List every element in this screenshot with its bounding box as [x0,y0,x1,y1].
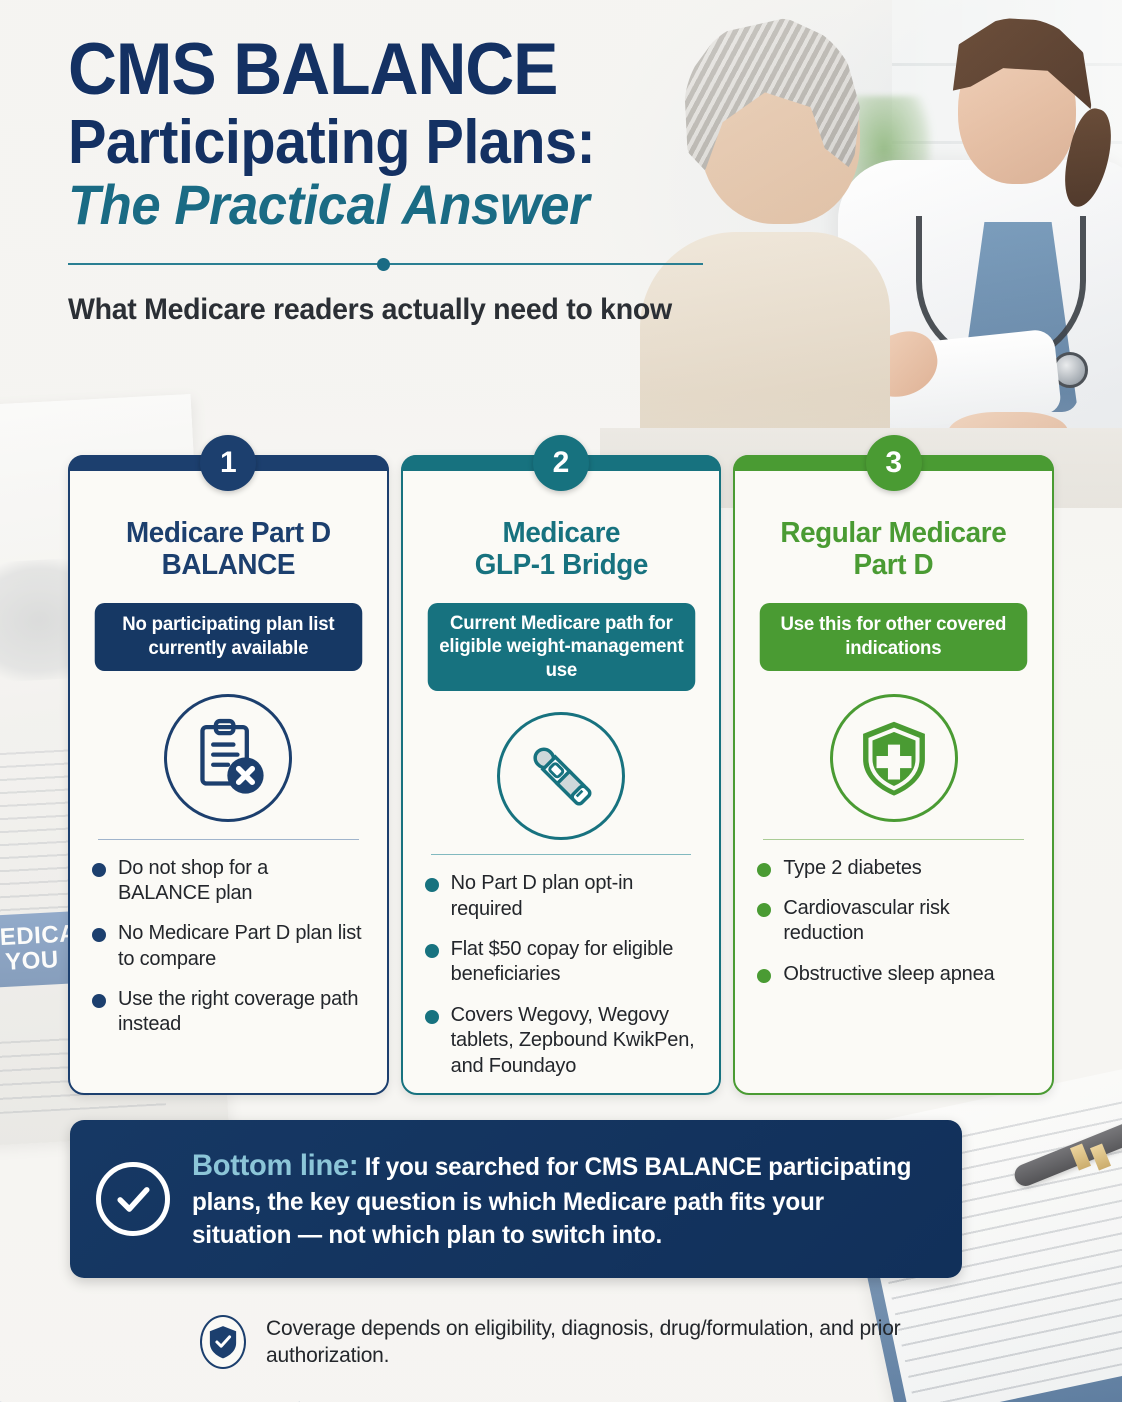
header: CMS BALANCE Participating Plans: The Pra… [68,36,728,327]
page-title-line1: CMS BALANCE [68,36,682,105]
card-bullet-list: Do not shop for a BALANCE plan No Medica… [92,856,365,1038]
checkmark-icon [111,1177,155,1221]
bullet-text: Flat $50 copay for eligible beneficiarie… [451,937,698,988]
card-title-line2: GLP-1 Bridge [474,549,647,581]
card-title-line2: BALANCE [162,549,295,581]
page-subtitle: What Medicare readers actually need to k… [68,293,695,327]
card-number-badge: 3 [866,435,922,491]
list-item: Do not shop for a BALANCE plan [92,856,365,907]
bullet-dot-icon [92,928,106,942]
card-divider [431,854,692,855]
bottom-line-banner: Bottom line: If you searched for CMS BAL… [70,1120,962,1278]
card-title: Regular Medicare Part D [763,517,1025,589]
list-item: Use the right coverage path instead [92,987,365,1038]
bullet-dot-icon [92,863,106,877]
icon-circle [164,694,292,822]
shield-check-glyph [208,1324,238,1360]
clipboard-x-icon [185,715,271,801]
bullet-text: Obstructive sleep apnea [783,962,994,987]
bullet-dot-icon [757,969,771,983]
icon-circle [830,694,958,822]
cards-row: 1 Medicare Part D BALANCE No participati… [68,455,1054,1095]
bullet-text: Covers Wegovy, Wegovy tablets, Zepbound … [451,1003,698,1079]
bullet-dot-icon [425,944,439,958]
bullet-text: Type 2 diabetes [783,856,921,881]
footer-disclaimer: Coverage depends on eligibility, diagnos… [200,1315,906,1370]
bullet-dot-icon [757,903,771,917]
card-title-line1: Medicare [502,517,620,549]
bullet-text: Do not shop for a BALANCE plan [118,856,365,907]
list-item: Cardiovascular risk reduction [757,896,1030,947]
bullet-text: Use the right coverage path instead [118,987,365,1038]
shield-check-icon [200,1315,246,1369]
card-medicare-glp1-bridge[interactable]: 2 Medicare GLP-1 Bridge Current Medicare… [401,455,722,1095]
bottom-line-text-block: Bottom line: If you searched for CMS BAL… [192,1146,912,1252]
card-status-pill: Current Medicare path for eligible weigh… [427,603,694,691]
list-item: Type 2 diabetes [757,856,1030,881]
card-icon-area [92,691,365,825]
list-item: Covers Wegovy, Wegovy tablets, Zepbound … [425,1003,698,1079]
card-status-pill: No participating plan list currently ava… [95,603,362,671]
check-circle-icon [96,1162,170,1236]
card-divider [98,839,359,840]
card-title: Medicare Part D BALANCE [97,517,359,589]
bullet-text: Cardiovascular risk reduction [783,896,1030,947]
bullet-text: No Medicare Part D plan list to compare [118,921,365,972]
bottom-line-label: Bottom line: [192,1149,358,1182]
card-regular-medicare-part-d[interactable]: 3 Regular Medicare Part D Use this for o… [733,455,1054,1095]
injection-pen-icon [518,733,604,819]
card-status-pill: Use this for other covered indications [760,603,1027,671]
infographic-page: MEDICARE & YOU CMS BALANCE Participating… [0,0,1122,1402]
card-bullet-list: Type 2 diabetes Cardiovascular risk redu… [757,856,1030,988]
bullet-dot-icon [425,878,439,892]
card-number-badge: 2 [533,435,589,491]
header-divider [68,257,703,271]
card-title-line1: Regular Medicare [781,517,1007,549]
page-title-line2: Participating Plans: [68,111,682,174]
list-item: Flat $50 copay for eligible beneficiarie… [425,937,698,988]
card-icon-area [425,711,698,840]
card-divider [763,839,1024,840]
bullet-dot-icon [92,994,106,1008]
card-icon-area [757,691,1030,825]
page-title-line3: The Practical Answer [68,176,688,235]
bullet-dot-icon [757,863,771,877]
card-bullet-list: No Part D plan opt-in required Flat $50 … [425,871,698,1079]
list-item: No Medicare Part D plan list to compare [92,921,365,972]
card-number-badge: 1 [200,435,256,491]
bullet-dot-icon [425,1010,439,1024]
list-item: Obstructive sleep apnea [757,962,1030,987]
list-item: No Part D plan opt-in required [425,871,698,922]
shield-plus-icon [851,715,937,801]
bullet-text: No Part D plan opt-in required [451,871,698,922]
card-title-line1: Medicare Part D [126,517,331,549]
icon-circle [497,712,625,840]
footer-text: Coverage depends on eligibility, diagnos… [266,1315,906,1370]
divider-dot-icon [377,258,390,271]
card-title: Medicare GLP-1 Bridge [430,517,692,589]
card-title-line2: Part D [854,549,934,581]
card-medicare-part-d-balance[interactable]: 1 Medicare Part D BALANCE No participati… [68,455,389,1095]
